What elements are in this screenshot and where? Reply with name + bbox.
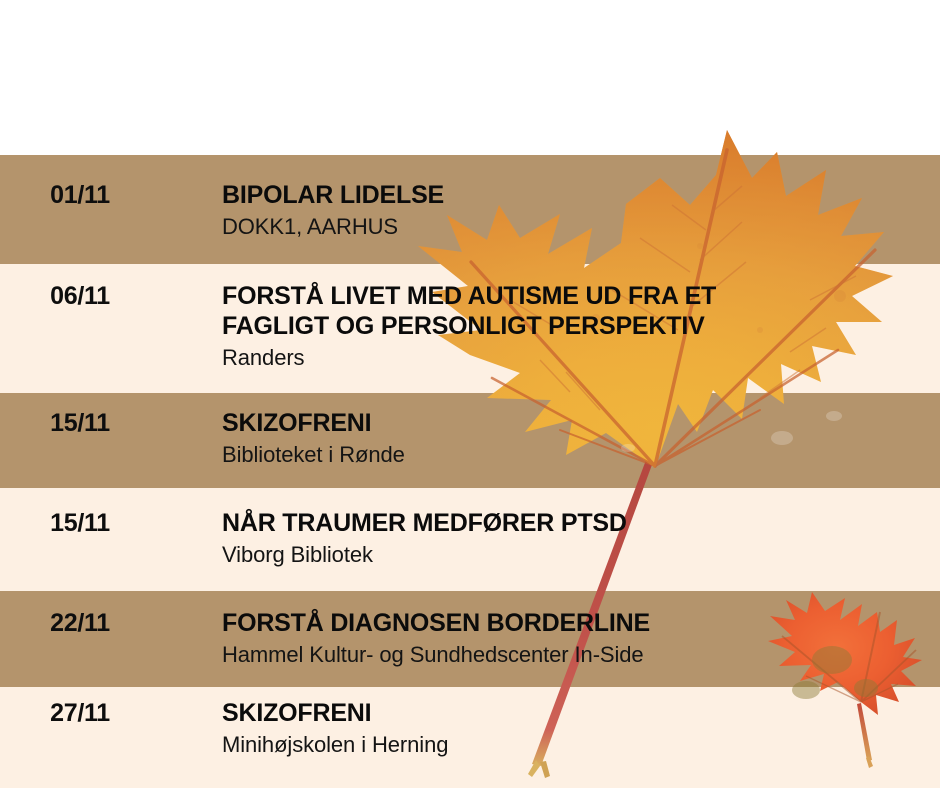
event-row[interactable]: 15/11 NÅR TRAUMER MEDFØRER PTSD Viborg B… (0, 508, 940, 569)
event-body: SKIZOFRENI Biblioteket i Rønde (160, 408, 940, 469)
event-date: 22/11 (0, 608, 160, 638)
event-row[interactable]: 27/11 SKIZOFRENI Minihøjskolen i Herning (0, 698, 940, 759)
event-venue: Biblioteket i Rønde (222, 441, 940, 469)
event-body: FORSTÅ DIAGNOSEN BORDERLINE Hammel Kultu… (160, 608, 940, 669)
event-venue: Randers (222, 344, 940, 372)
event-venue: DOKK1, AARHUS (222, 213, 940, 241)
event-row[interactable]: 22/11 FORSTÅ DIAGNOSEN BORDERLINE Hammel… (0, 608, 940, 669)
event-body: SKIZOFRENI Minihøjskolen i Herning (160, 698, 940, 759)
event-date: 15/11 (0, 408, 160, 438)
event-venue: Hammel Kultur- og Sundhedscenter In-Side (222, 641, 940, 669)
event-title: NÅR TRAUMER MEDFØRER PTSD (222, 508, 940, 538)
event-title: BIPOLAR LIDELSE (222, 180, 940, 210)
event-title: SKIZOFRENI (222, 408, 940, 438)
event-title: FORSTÅ DIAGNOSEN BORDERLINE (222, 608, 940, 638)
event-row[interactable]: 15/11 SKIZOFRENI Biblioteket i Rønde (0, 408, 940, 469)
event-body: BIPOLAR LIDELSE DOKK1, AARHUS (160, 180, 940, 241)
event-date: 27/11 (0, 698, 160, 728)
event-title: SKIZOFRENI (222, 698, 940, 728)
event-venue: Viborg Bibliotek (222, 541, 940, 569)
event-title-line-1: FORSTÅ LIVET MED AUTISME UD FRA ET (222, 281, 940, 311)
event-date: 15/11 (0, 508, 160, 538)
poster-canvas: Temaaftener i november (0, 0, 940, 788)
event-title-line-2: FAGLIGT OG PERSONLIGT PERSPEKTIV (222, 311, 940, 341)
event-body: FORSTÅ LIVET MED AUTISME UD FRA ET FAGLI… (160, 281, 940, 372)
event-row[interactable]: 06/11 FORSTÅ LIVET MED AUTISME UD FRA ET… (0, 281, 940, 372)
event-date: 01/11 (0, 180, 160, 210)
event-row[interactable]: 01/11 BIPOLAR LIDELSE DOKK1, AARHUS (0, 180, 940, 241)
event-body: NÅR TRAUMER MEDFØRER PTSD Viborg Bibliot… (160, 508, 940, 569)
header-background (0, 0, 940, 155)
event-venue: Minihøjskolen i Herning (222, 731, 940, 759)
event-date: 06/11 (0, 281, 160, 311)
